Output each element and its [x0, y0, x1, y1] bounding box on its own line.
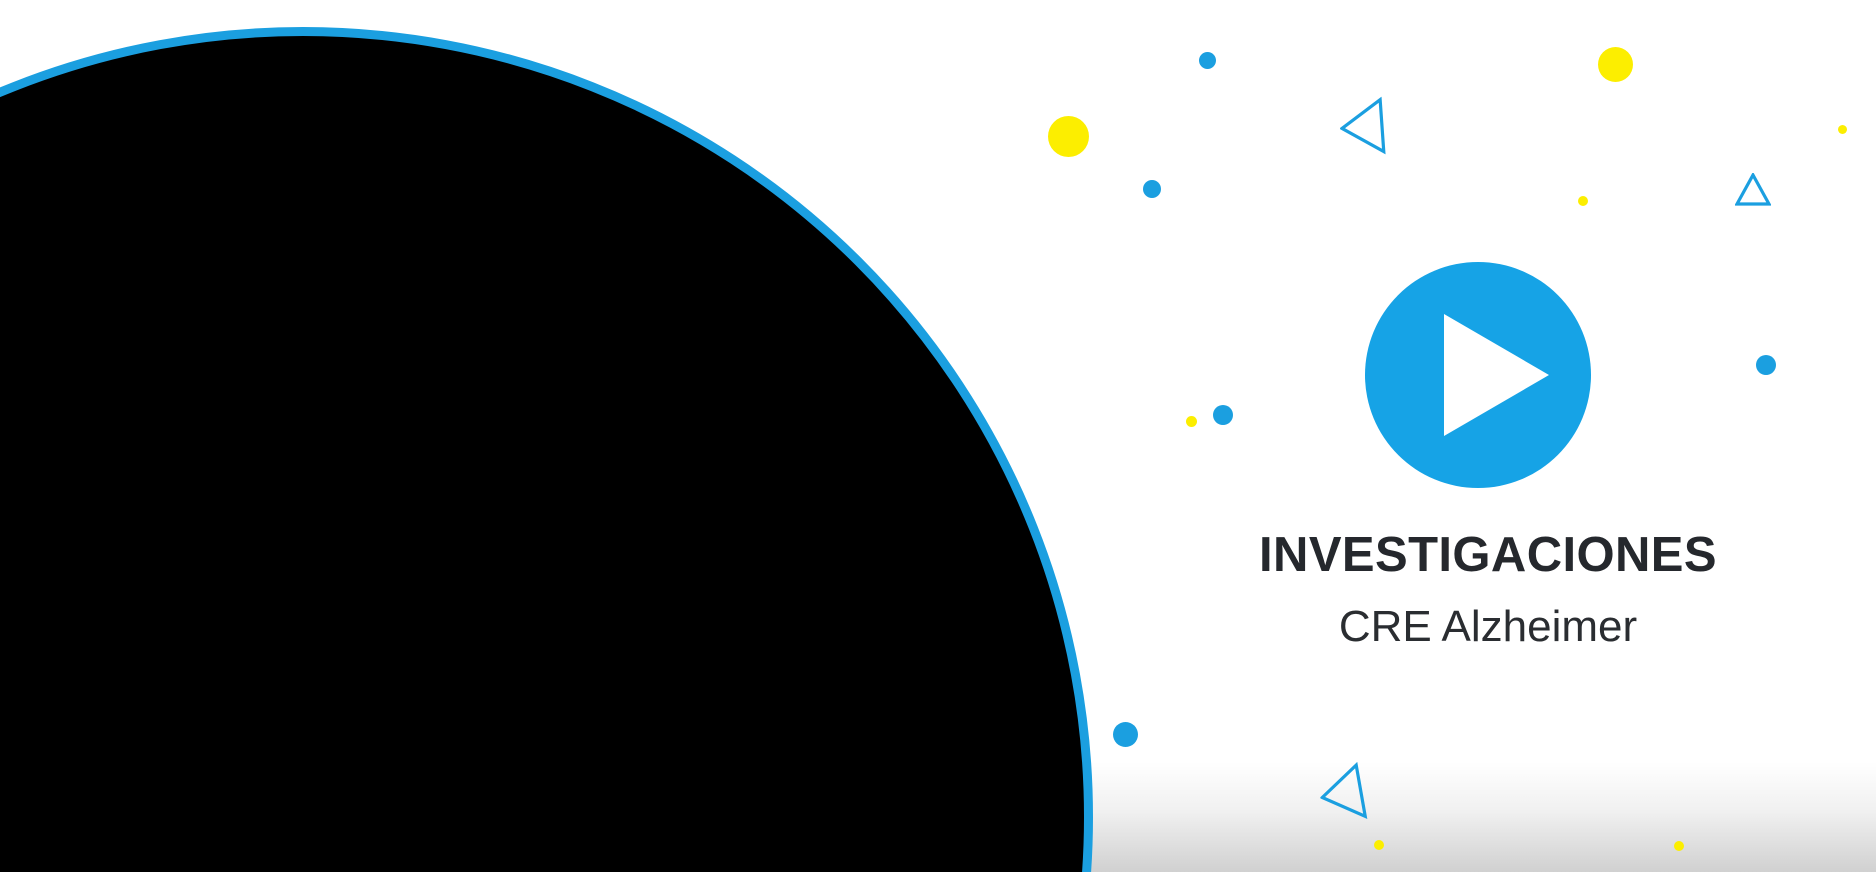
decorative-dot-icon [1756, 355, 1776, 375]
play-button[interactable] [1365, 262, 1591, 488]
decorative-triangle-up-icon [1735, 173, 1771, 206]
decorative-dot-icon [1578, 196, 1588, 206]
video-splash-screen: INVESTIGACIONES CRE Alzheimer [0, 0, 1876, 872]
decorative-dot-icon [1186, 416, 1197, 427]
video-thumbnail-circle[interactable] [0, 27, 1093, 872]
decorative-dot-icon [1213, 405, 1233, 425]
decorative-dot-icon [1674, 841, 1684, 851]
decorative-dot-icon [1374, 840, 1384, 850]
decorative-dot-icon [1199, 52, 1216, 69]
title-block: INVESTIGACIONES CRE Alzheimer [1100, 530, 1876, 653]
play-triangle-icon [1444, 314, 1549, 436]
page-title: INVESTIGACIONES [1100, 530, 1876, 581]
decorative-dot-icon [1143, 180, 1161, 198]
page-subtitle: CRE Alzheimer [1100, 601, 1876, 653]
decorative-dot-icon [1838, 125, 1847, 134]
decorative-dot-icon [1048, 116, 1089, 157]
decorative-dot-icon [1598, 47, 1633, 82]
decorative-triangle-left-icon [1338, 97, 1387, 158]
decorative-dot-icon [1113, 722, 1138, 747]
